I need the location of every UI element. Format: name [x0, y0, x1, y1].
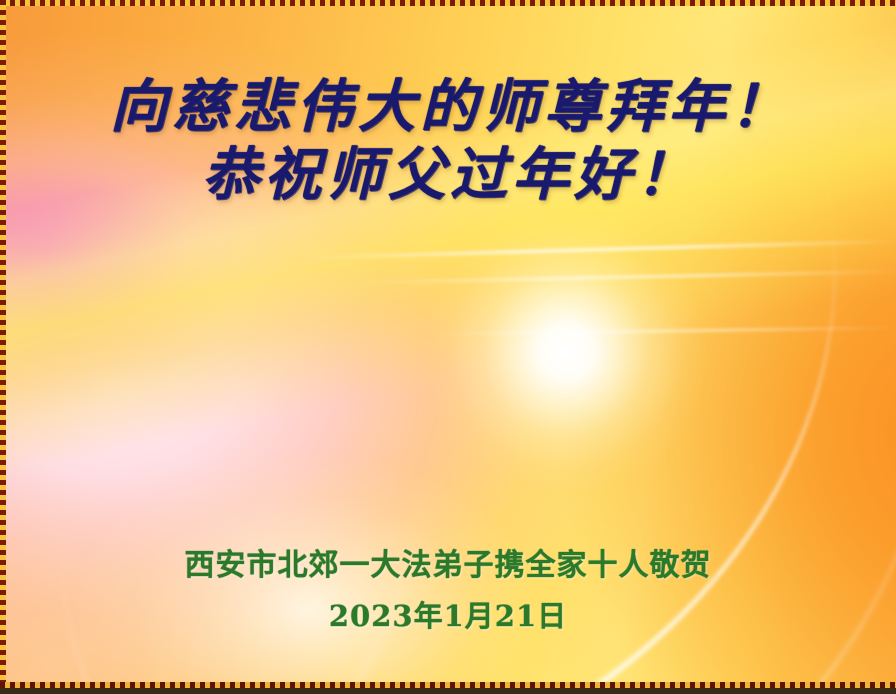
border-dashed-top [0, 0, 896, 6]
greeting-headline: 向慈悲伟大的师尊拜年！ 恭祝师父过年好！ [0, 78, 896, 204]
greeting-signature: 西安市北郊一大法弟子携全家十人敬贺 2023年1月21日 [0, 540, 896, 635]
greeting-card: 向慈悲伟大的师尊拜年！ 恭祝师父过年好！ 西安市北郊一大法弟子携全家十人敬贺 2… [0, 0, 896, 694]
border-dashed-bottom [0, 682, 896, 688]
light-streak-3 [430, 327, 896, 336]
greeting-line-1: 向慈悲伟大的师尊拜年！ [6, 78, 896, 136]
signature-date: 2023年1月21日 [0, 593, 896, 635]
greeting-line-2: 恭祝师父过年好！ [4, 146, 896, 204]
light-streak-2 [360, 270, 896, 283]
border-bottom-fill [0, 688, 896, 694]
signature-attribution: 西安市北郊一大法弟子携全家十人敬贺 [0, 540, 896, 584]
light-streak-1 [300, 240, 896, 260]
